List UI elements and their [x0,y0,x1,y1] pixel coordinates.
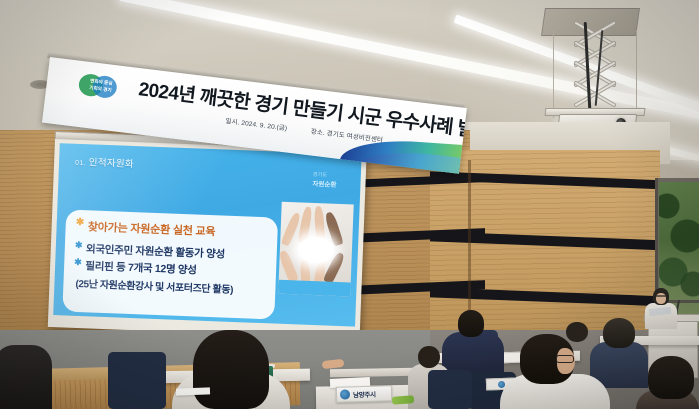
bullet-star-icon: ✱ [76,218,85,228]
audience-member-head [566,322,588,342]
eyeglasses-icon [556,355,574,363]
audience-member-hair [193,330,269,409]
slide-section-heading: 01.인적자원화 [75,154,134,170]
name-placard: 남양주시 [336,385,392,402]
desk-item [392,395,415,405]
city-emblem-icon [340,389,350,399]
slide-section-title: 인적자원화 [89,157,135,170]
conference-room-photo: 01.인적자원화 경기도 자원순환 ✱ 찾아가는 자원순환 실천 교육 [0,0,699,409]
paper-sheet [176,387,210,395]
projected-slide: 01.인적자원화 경기도 자원순환 ✱ 찾아가는 자원순환 실천 교육 [53,143,361,326]
slide-bullet-text: 필리핀 등 7개국 12명 양성 [85,258,197,277]
slide-bullet-text: 찾아가는 자원순환 실천 교육 [88,218,216,239]
slide-bullet-primary: ✱ 찾아가는 자원순환 실천 교육 [75,218,267,241]
placard-emblem-icon [497,380,504,387]
presenter-glasses-icon [656,295,666,297]
lift-wire [636,30,637,116]
chair-back [108,352,166,409]
slide-content-card: ✱ 찾아가는 자원순환 실천 교육 ✱ 외국인주민 자원순환 활동가 양성 ✱ … [62,209,278,319]
audience-member-head [603,318,635,348]
bullet-star-icon: ✱ [75,241,83,250]
gyeonggi-logo-icon: 변화의 중심 기회의 경기 [77,71,122,102]
audience-member-head [458,310,484,337]
slide-section-number: 01. [75,160,86,167]
lift-wire [553,30,554,118]
photo-lower-band [278,280,350,297]
slide-photo-hands [278,202,353,297]
window-foliage [659,182,699,302]
audience-member-body [0,345,52,409]
audience-member-head [418,346,440,368]
audience-member-head [648,356,694,399]
banner-place: 장소. 경기도 여성비전센터 [310,128,383,144]
slide-logo-main-text: 자원순환 [312,178,350,189]
chair-back [428,370,472,409]
bullet-star-icon: ✱ [74,258,82,267]
banner-date: 일시. 2024. 9. 20.(금) [225,118,288,133]
projection-screen: 01.인적자원화 경기도 자원순환 ✱ 찾아가는 자원순환 실천 교육 [48,139,367,339]
slide-corner-logo: 경기도 자원순환 [312,171,351,188]
name-placard-text: 남양주시 [353,389,376,400]
